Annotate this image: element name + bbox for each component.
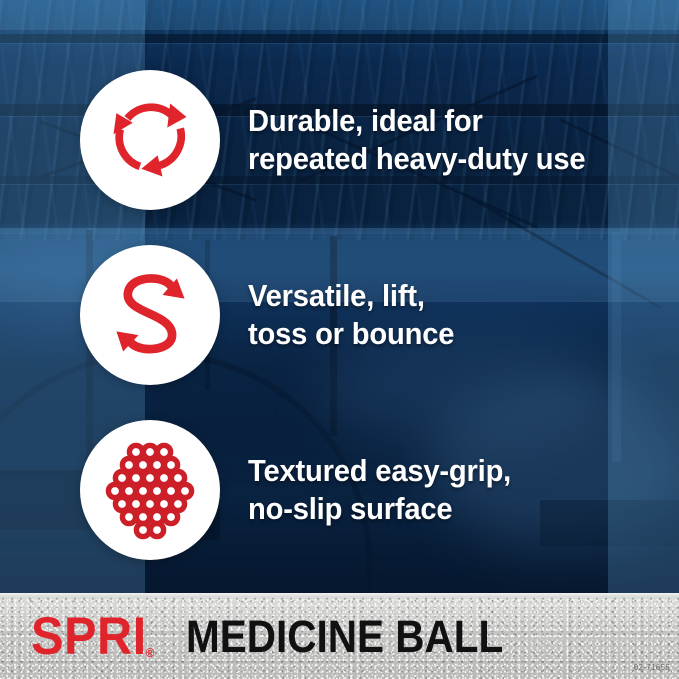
- feature-text: Versatile, lift, toss or bounce: [248, 277, 454, 351]
- feature-row-durable: Durable, ideal for repeated heavy-duty u…: [0, 52, 679, 227]
- feature-row-versatile: Versatile, lift, toss or bounce: [0, 227, 679, 402]
- textured-rings-pattern-icon: [98, 438, 202, 542]
- circular-arrows-icon: [102, 92, 198, 188]
- feature-text: Textured easy-grip, no-slip surface: [248, 452, 511, 526]
- brand-footer-bar: SPRI® MEDICINE BALL 02-71655: [0, 593, 679, 679]
- feature-list: Durable, ideal for repeated heavy-duty u…: [0, 0, 679, 593]
- product-name: MEDICINE BALL: [186, 614, 503, 659]
- feature-line: Textured easy-grip,: [248, 452, 511, 489]
- feature-line: repeated heavy-duty use: [248, 140, 585, 177]
- product-feature-image: Durable, ideal for repeated heavy-duty u…: [0, 0, 679, 679]
- feature-line: no-slip surface: [248, 490, 511, 527]
- feature-line: Durable, ideal for: [248, 102, 585, 139]
- feature-badge: [80, 70, 220, 210]
- feature-line: toss or bounce: [248, 315, 454, 352]
- spri-logo: SPRI®: [31, 610, 155, 663]
- brand-name: SPRI: [31, 607, 147, 666]
- feature-row-textured: Textured easy-grip, no-slip surface: [0, 402, 679, 577]
- feature-text: Durable, ideal for repeated heavy-duty u…: [248, 102, 585, 176]
- sku-code: 02-71655: [634, 663, 670, 672]
- feature-badge: [80, 245, 220, 385]
- registered-trademark-icon: ®: [146, 646, 155, 659]
- s-curve-double-arrow-icon: [102, 267, 198, 363]
- feature-line: Versatile, lift,: [248, 277, 454, 314]
- feature-badge: [80, 420, 220, 560]
